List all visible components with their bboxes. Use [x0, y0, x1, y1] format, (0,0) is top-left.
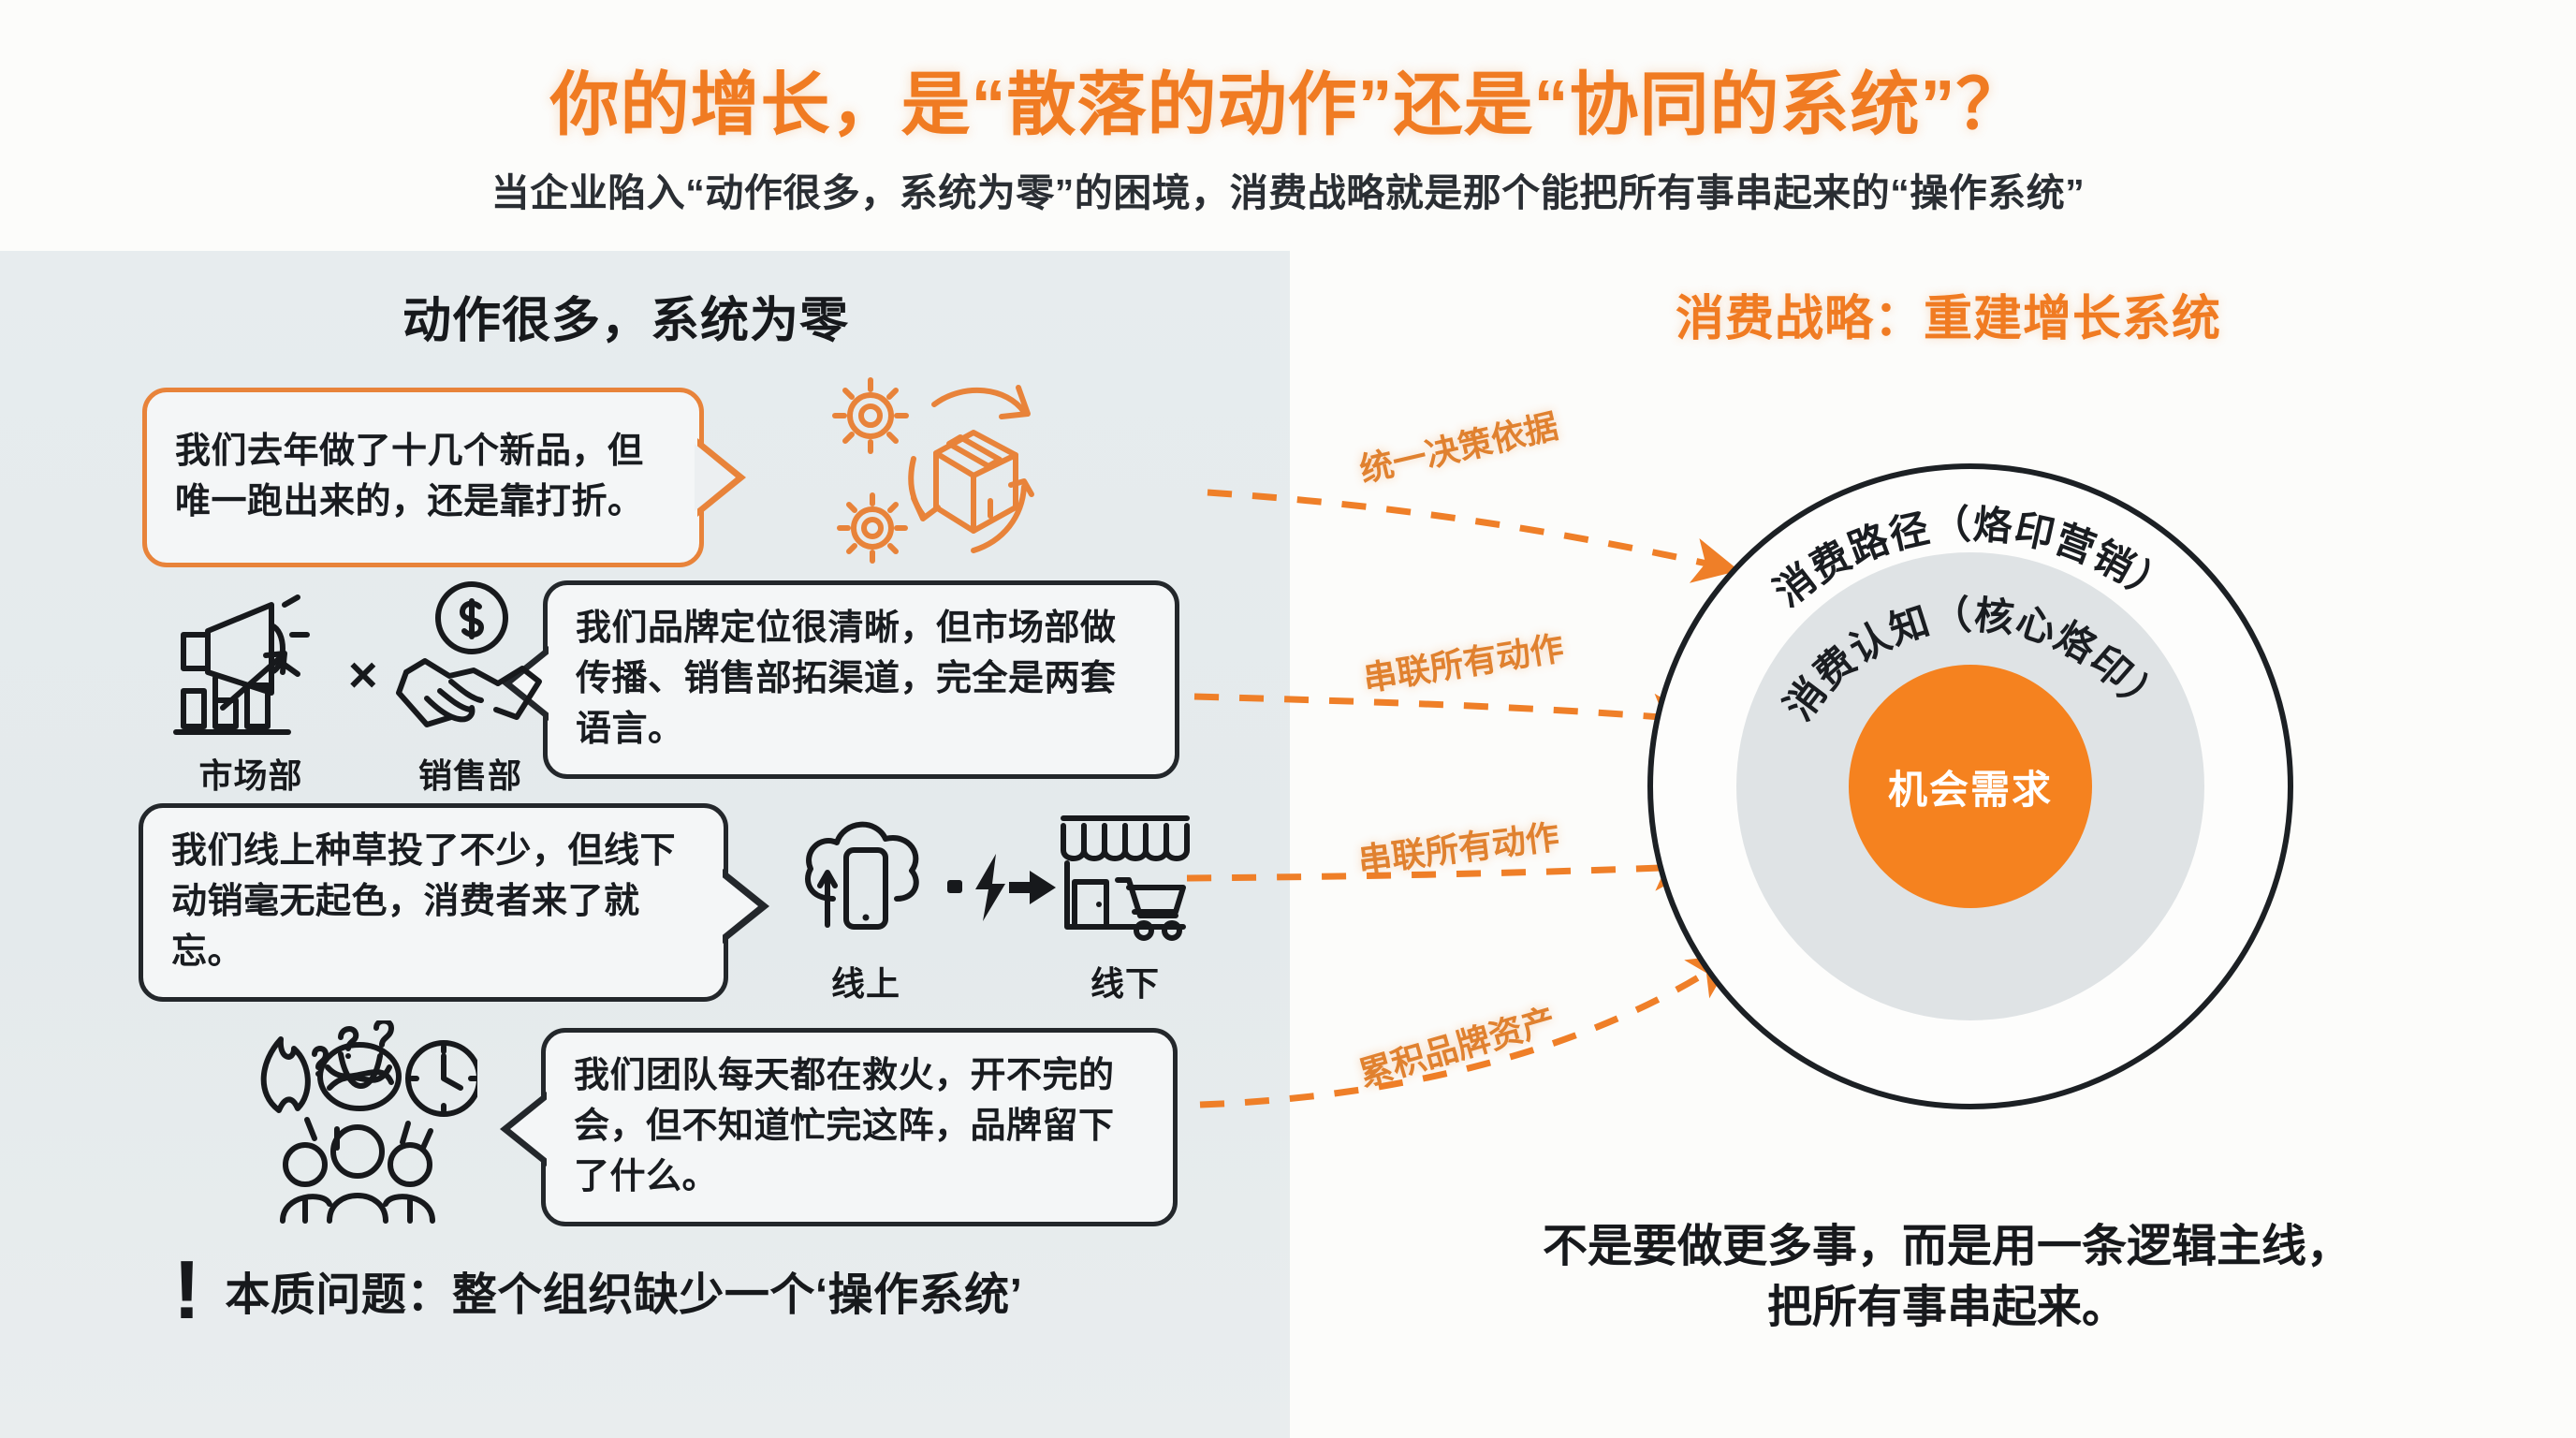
connector-label-4: 累积品牌资产: [1353, 993, 1560, 1096]
left-conclusion: ! 本质问题：整个组织缺少一个‘操作系统’: [173, 1253, 1203, 1327]
middle-ring-label: 消费认知（核心烙印）: [1776, 593, 2170, 728]
offline-store-caption: 线下: [1050, 957, 1200, 1005]
page-title: 你的增长，是“散落的动作”还是“协同的系统”？: [0, 49, 2576, 149]
pain-point-bubble-4: 我们团队每天都在救火，开不完的会，但不知道忙完这阵，品牌留下了什么。: [541, 1028, 1178, 1226]
bubble-tail-3-inner: [719, 874, 758, 938]
left-column-heading: 动作很多，系统为零: [402, 281, 849, 351]
outer-ring-label: 消费路径（烙印营销）: [1766, 502, 2178, 614]
firefighting-team-icon: [243, 1020, 477, 1226]
pain-point-bubble-2: 我们品牌定位很清晰，但市场部做传播、销售部拓渠道，完全是两套语言。: [543, 580, 1179, 779]
exclamation-icon: !: [173, 1253, 200, 1327]
right-column-heading: 消费战略：重建增长系统: [1676, 279, 2221, 349]
ring-label-arcs: 消费路径（烙印营销） 消费认知（核心烙印）: [1591, 412, 2359, 1161]
connector-label-2: 串联所有动作: [1359, 621, 1566, 700]
pain-point-bubble-1: 我们去年做了十几个新品，但唯一跑出来的，还是靠打折。: [142, 388, 704, 567]
bubble-tail-1-inner: [695, 444, 736, 511]
marketing-department-caption: 市场部: [167, 749, 335, 798]
pain-point-text-3: 我们线上种草投了不少，但线下动销毫无起色，消费者来了就忘。: [143, 808, 724, 997]
pain-point-text-2: 我们品牌定位很清晰，但市场部做传播、销售部拓渠道，完全是两套语言。: [548, 585, 1175, 774]
right-conclusion-line-2: 把所有事串起来。: [1385, 1278, 2509, 1339]
connector-label-3: 串联所有动作: [1355, 810, 1562, 883]
lightning-transfer-icon: [947, 854, 1056, 921]
sales-department-icon: 销售部: [393, 577, 548, 798]
offline-store-icon: 线下: [1050, 807, 1200, 1005]
gear-box-cycle-icon: [824, 367, 1039, 573]
connector-label-1: 统一决策依据: [1354, 399, 1562, 492]
sales-department-caption: 销售部: [393, 749, 548, 798]
online-channel-caption: 线上: [796, 957, 936, 1005]
infographic-canvas: 你的增长，是“散落的动作”还是“协同的系统”？ 当企业陷入“动作很多，系统为零”…: [0, 0, 2576, 1438]
pain-point-bubble-3: 我们线上种草投了不少，但线下动销毫无起色，消费者来了就忘。: [139, 803, 728, 1002]
multiply-symbol: ×: [348, 646, 378, 704]
right-conclusion: 不是要做更多事，而是用一条逻辑主线， 把所有事串起来。: [1385, 1217, 2509, 1339]
left-conclusion-text: 本质问题：整个组织缺少一个‘操作系统’: [225, 1257, 1022, 1323]
right-conclusion-line-1: 不是要做更多事，而是用一条逻辑主线，: [1385, 1217, 2509, 1278]
pain-point-text-1: 我们去年做了十几个新品，但唯一跑出来的，还是靠打折。: [147, 408, 699, 547]
page-subtitle: 当企业陷入“动作很多，系统为零”的困境，消费战略就是那个能把所有事串起来的“操作…: [0, 161, 2576, 217]
online-channel-icon: 线上: [796, 811, 936, 1005]
pain-point-text-4: 我们团队每天都在救火，开不完的会，但不知道忙完这阵，品牌留下了什么。: [546, 1033, 1173, 1222]
bubble-tail-4-inner: [510, 1097, 549, 1161]
marketing-department-icon: 市场部: [167, 588, 335, 798]
